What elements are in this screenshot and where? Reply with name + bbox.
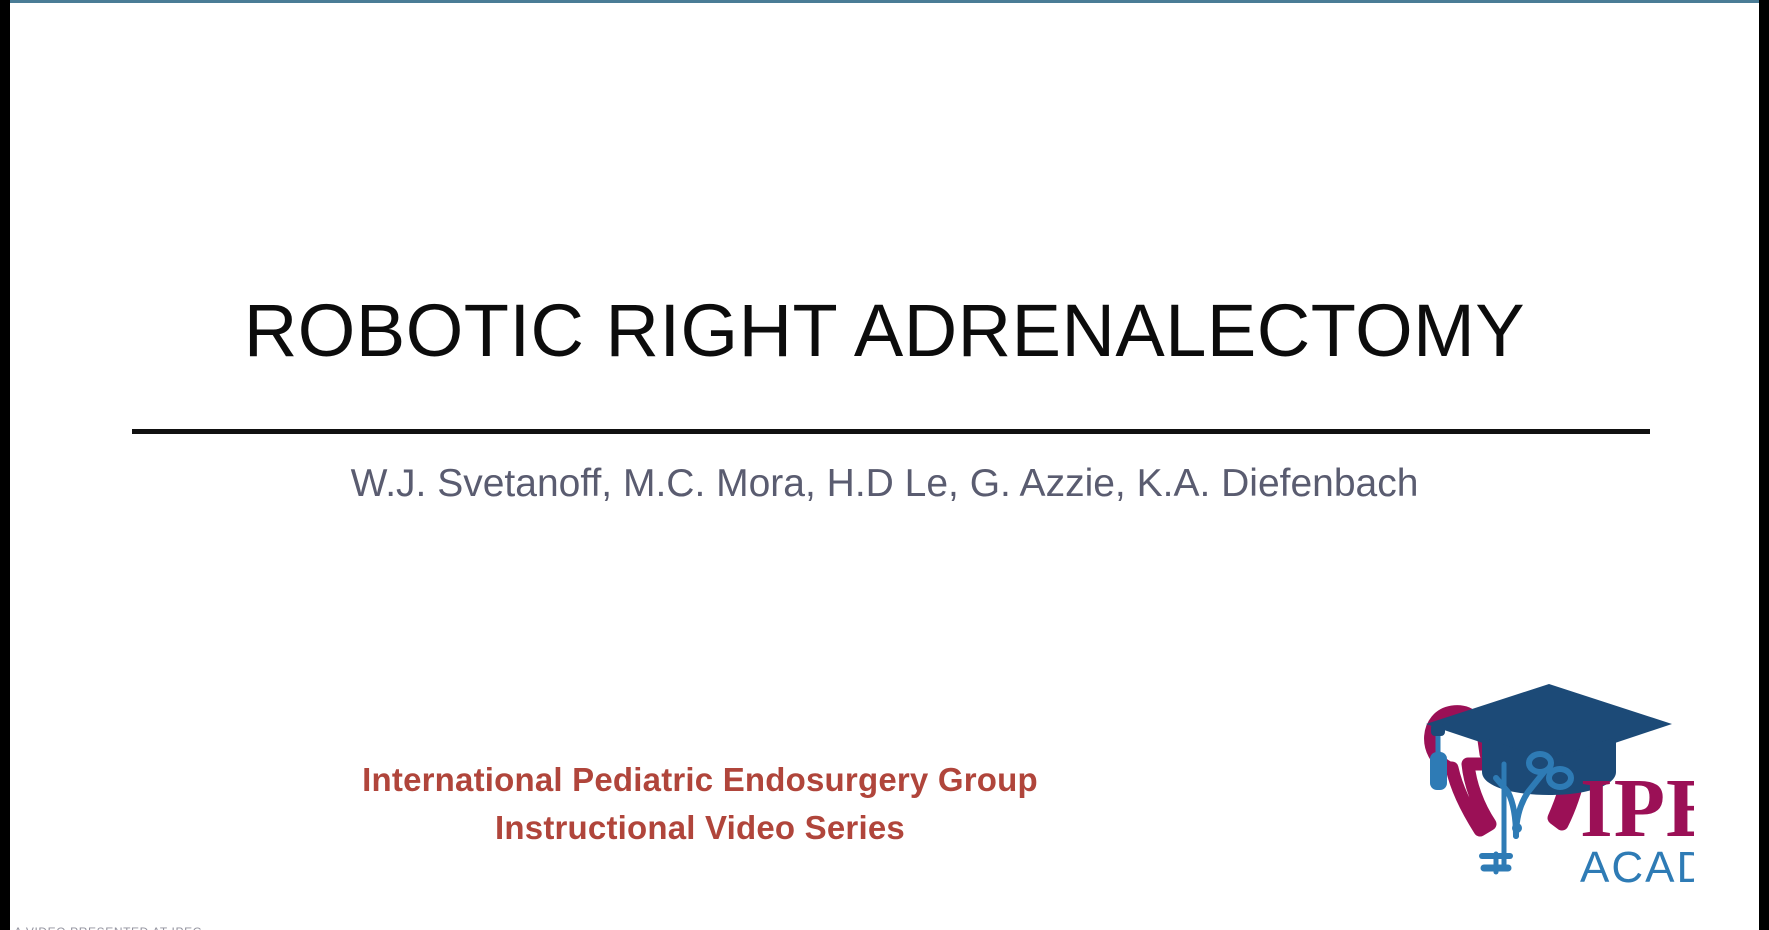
authors-list: W.J. Svetanoff, M.C. Mora, H.D Le, G. Az… xyxy=(0,460,1769,508)
slide-frame: ROBOTIC RIGHT ADRENALECTOMY W.J. Svetano… xyxy=(0,0,1769,930)
logo-wordmark: IPEG xyxy=(1580,762,1694,855)
title-block: ROBOTIC RIGHT ADRENALECTOMY xyxy=(0,288,1769,374)
title-divider xyxy=(132,429,1650,434)
slide-title: ROBOTIC RIGHT ADRENALECTOMY xyxy=(0,288,1769,374)
cut-off-caption: A VIDEO PRESENTED AT IPEG xyxy=(14,926,434,930)
ipeg-academy-logo: IPEG ACADEMY xyxy=(1404,668,1694,890)
top-accent-rule xyxy=(0,0,1769,3)
organization-name: International Pediatric Endosurgery Grou… xyxy=(0,756,1400,804)
series-name: Instructional Video Series xyxy=(0,804,1400,852)
logo-subtitle: ACADEMY xyxy=(1580,843,1694,890)
organization-block: International Pediatric Endosurgery Grou… xyxy=(0,756,1400,852)
